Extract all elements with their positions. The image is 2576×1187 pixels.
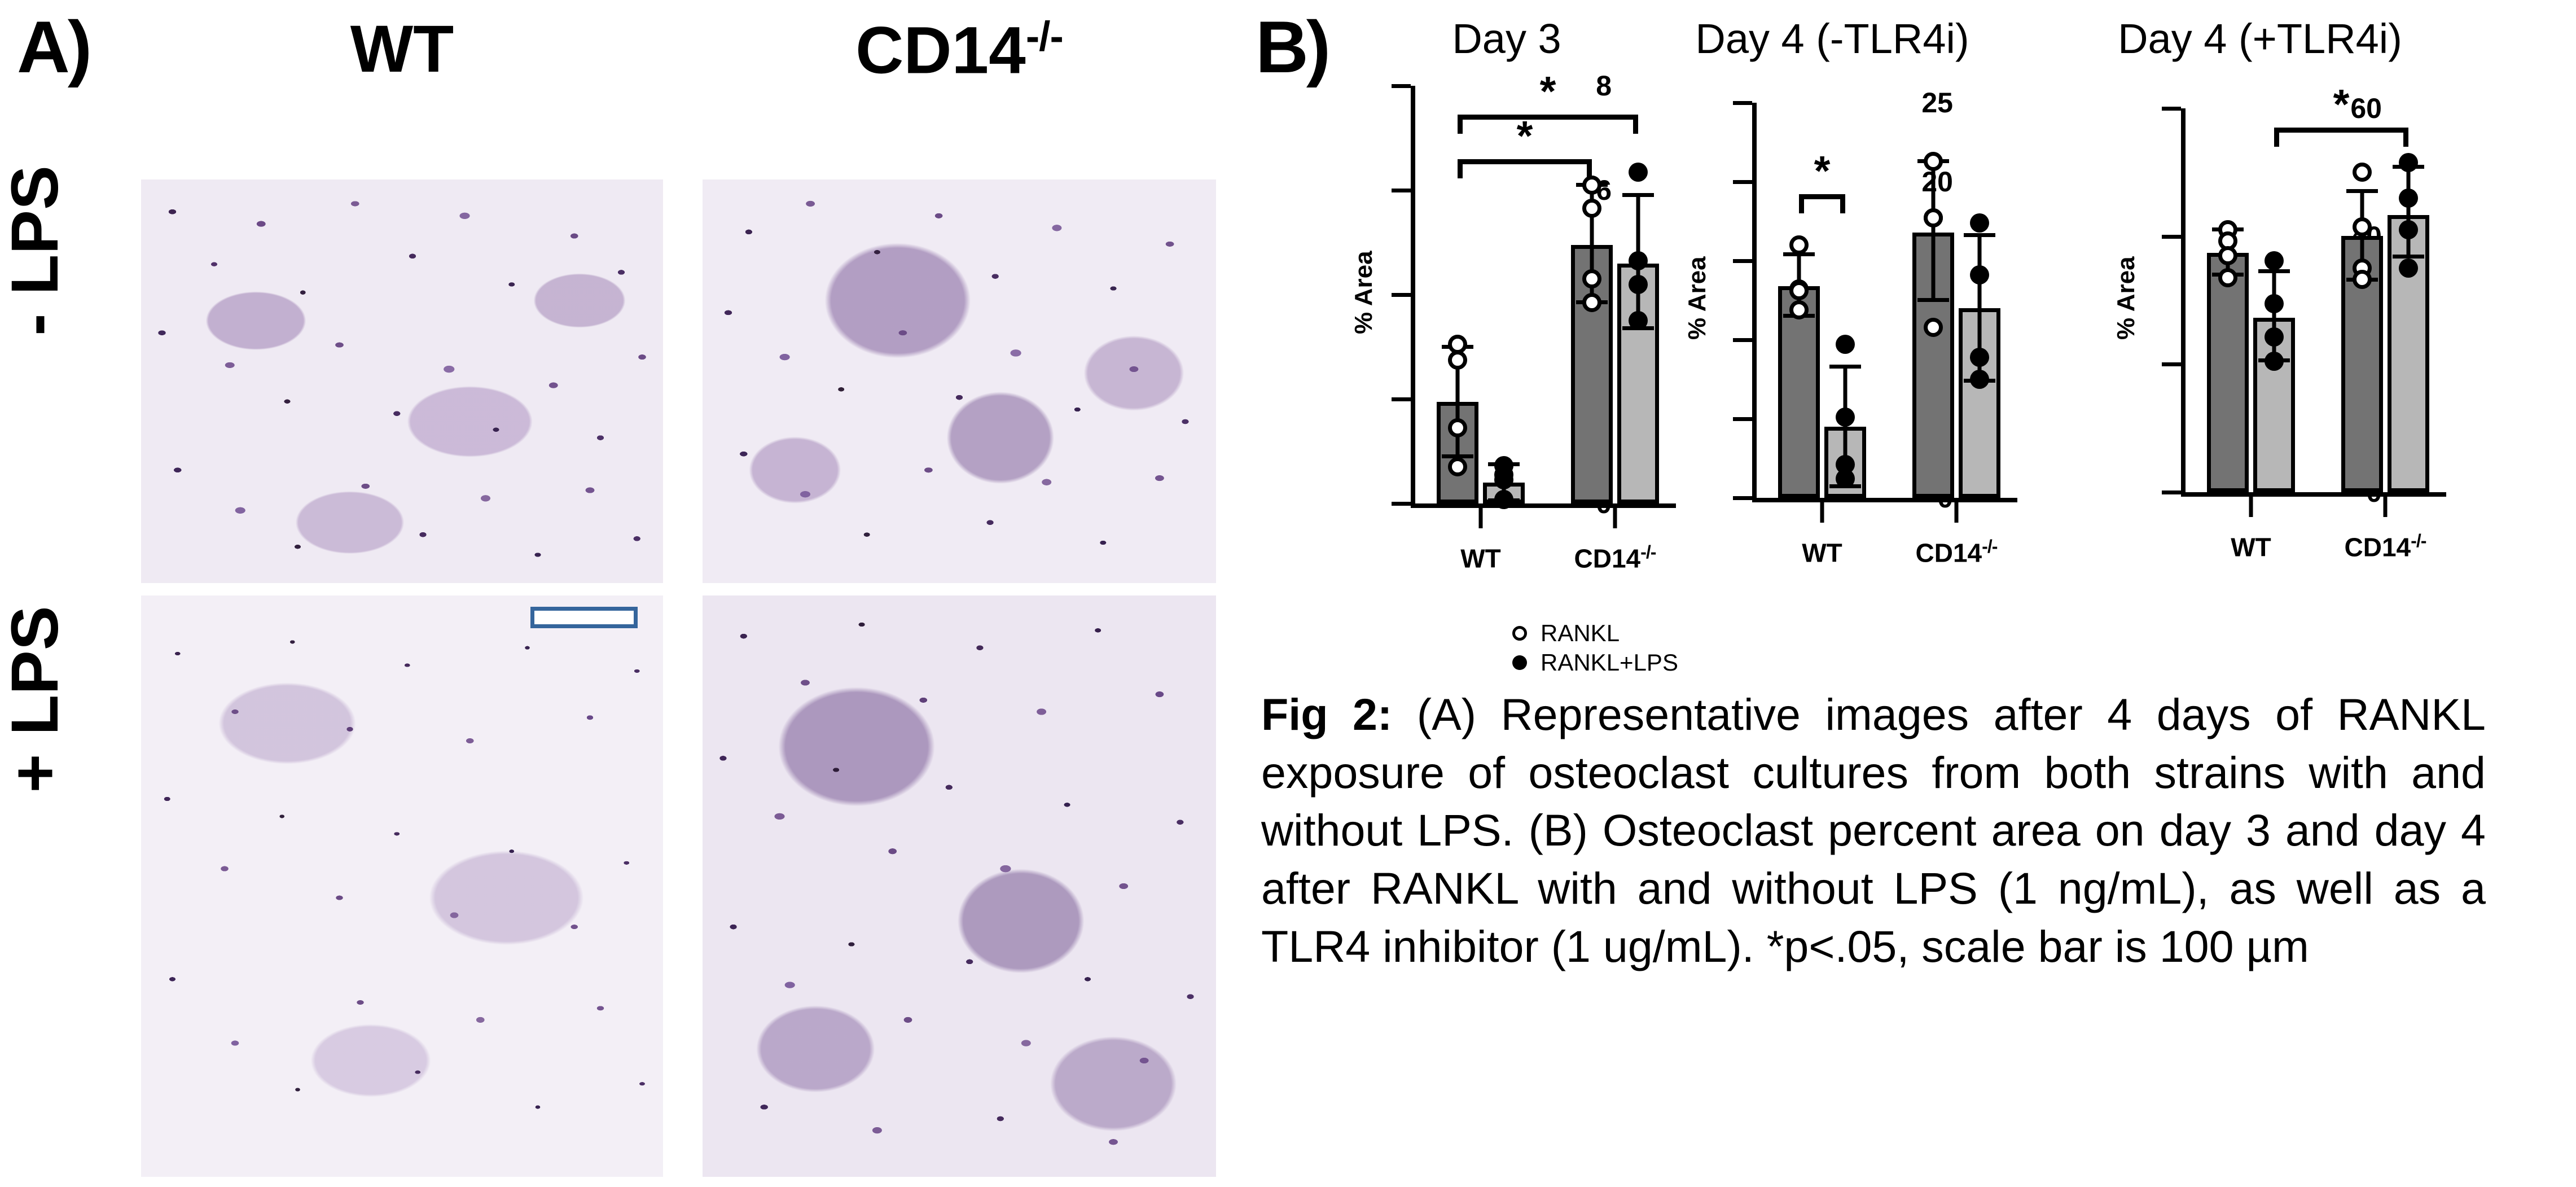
- x-label-text: WT: [1802, 538, 1842, 567]
- micrograph-wt-minus-lps: [141, 179, 663, 583]
- data-point-RANKL: [1924, 152, 1943, 171]
- column-header-wt-text: WT: [350, 12, 454, 86]
- y-axis-label: % Area: [1350, 251, 1378, 334]
- significance-star: *: [1540, 71, 1556, 112]
- column-header-cd14-sup: -/-: [1026, 13, 1063, 59]
- x-tick: [1955, 502, 1959, 523]
- data-point-RANKL-LPS: [1970, 265, 1989, 284]
- y-tick: [1733, 417, 1752, 421]
- figure-caption: Fig 2: (A) Representative images after 4…: [1261, 686, 2486, 975]
- row-label-plus-lps: + LPS: [2, 530, 68, 869]
- data-point-RANKL-LPS: [1970, 348, 1989, 367]
- y-tick: [1733, 180, 1752, 184]
- x-axis-label-WT: WT: [2231, 531, 2271, 562]
- plot-area: % Area0204060WTCD14-/-*: [2181, 108, 2407, 492]
- data-point-RANKL: [1582, 269, 1601, 288]
- caption-label: Fig 2:: [1261, 689, 1392, 739]
- bracket-line: [1458, 159, 1592, 164]
- data-point-RANKL-LPS: [1836, 408, 1855, 427]
- y-tick: [2162, 490, 2181, 494]
- y-axis: [2181, 108, 2186, 492]
- y-axis: [1752, 103, 1757, 498]
- error-bar: [2407, 167, 2411, 257]
- x-label-text: CD14: [2345, 532, 2411, 562]
- panel-a: A) WT CD14-/- - LPS + LPS: [0, 0, 1253, 1187]
- data-point-RANKL-LPS: [1494, 490, 1513, 509]
- y-tick-label: 8: [1596, 69, 1612, 102]
- data-point-RANKL-LPS: [1836, 469, 1855, 488]
- significance-star: *: [1517, 115, 1533, 157]
- scale-bar: [530, 607, 638, 628]
- bracket-line: [2274, 128, 2408, 133]
- bar-WT-RANKL: [2207, 253, 2249, 492]
- data-point-RANKL: [1582, 199, 1601, 218]
- x-tick: [1479, 508, 1483, 528]
- x-axis-label-WT: WT: [1802, 536, 1842, 568]
- error-bar-cap: [2346, 189, 2378, 193]
- bracket-tick-right: [1633, 115, 1638, 134]
- row-label-minus-lps: - LPS: [2, 81, 68, 420]
- data-point-RANKL: [1924, 318, 1943, 337]
- y-tick: [2162, 362, 2181, 366]
- error-bar-cap: [1622, 193, 1654, 197]
- data-point-RANKL-LPS: [2265, 251, 2284, 270]
- y-tick: [1392, 397, 1411, 401]
- data-point-RANKL: [2218, 246, 2237, 265]
- x-label-text: WT: [1460, 544, 1501, 573]
- y-tick-label: 60: [2350, 92, 2382, 125]
- data-point-RANKL: [1789, 281, 1809, 300]
- panel-b: B) Day 3 % Area02468WTCD14-/-** Day 4 (-…: [1250, 0, 2576, 1187]
- legend-label: RANKL: [1541, 621, 1620, 645]
- x-axis-label-CD14: CD14-/-: [1916, 536, 1998, 568]
- x-axis-label-CD14: CD14-/-: [1574, 542, 1656, 573]
- error-bar: [2272, 271, 2276, 361]
- data-point-RANKL-LPS: [2399, 189, 2418, 208]
- x-axis-label-CD14: CD14-/-: [2345, 531, 2426, 562]
- data-point-RANKL: [1448, 457, 1467, 476]
- bracket-tick-left: [2274, 128, 2279, 147]
- bracket-line: [1799, 194, 1845, 199]
- bracket-tick-right: [2403, 128, 2408, 147]
- stain-texture: [703, 179, 1216, 583]
- data-point-RANKL-LPS: [2399, 220, 2418, 239]
- chart-title: Day 4 (-TLR4i): [1657, 18, 2007, 60]
- panel-a-tag: A): [17, 10, 90, 84]
- error-bar-cap: [1964, 233, 1995, 237]
- significance-star: *: [2333, 84, 2350, 125]
- data-point-RANKL-LPS: [1970, 370, 1989, 389]
- x-tick: [1613, 508, 1617, 528]
- plot-area: % Area0510152025WTCD14-/-*: [1752, 103, 1978, 498]
- significance-star: *: [1814, 150, 1831, 192]
- stain-texture: [141, 179, 663, 583]
- bracket-tick-left: [1458, 159, 1463, 178]
- stain-texture: [141, 595, 663, 1177]
- y-tick: [2162, 235, 2181, 239]
- data-point-RANKL-LPS: [1629, 275, 1648, 294]
- y-tick: [2162, 107, 2181, 111]
- y-tick: [1733, 259, 1752, 263]
- error-bar-cap: [2393, 255, 2424, 259]
- data-point-RANKL-LPS: [1494, 470, 1513, 489]
- data-point-RANKL: [1789, 235, 1809, 255]
- data-point-RANKL: [2353, 217, 2372, 236]
- x-tick: [2249, 497, 2253, 517]
- data-point-RANKL-LPS: [2265, 352, 2284, 371]
- micrograph-cd14-minus-lps: [703, 179, 1216, 583]
- x-label-text: CD14: [1574, 544, 1641, 573]
- y-tick: [1392, 502, 1411, 506]
- y-tick: [1392, 84, 1411, 88]
- panel-b-tag: B): [1256, 10, 1328, 84]
- column-header-wt: WT: [141, 16, 663, 82]
- error-bar: [1932, 161, 1936, 300]
- chart-title: Day 4 (+TLR4i): [2085, 18, 2435, 60]
- y-tick: [1733, 101, 1752, 105]
- data-point-RANKL-LPS: [1629, 163, 1648, 182]
- legend-item-rankl-lps: RANKL+LPS: [1512, 648, 1678, 677]
- y-tick-label: 20: [1921, 165, 1953, 198]
- data-point-RANKL-LPS: [1970, 213, 1989, 233]
- bracket-tick-left: [1458, 115, 1463, 134]
- data-point-RANKL: [2353, 163, 2372, 182]
- x-axis: [2181, 492, 2446, 497]
- bracket-tick-right: [1587, 159, 1592, 178]
- data-point-RANKL-LPS: [2265, 294, 2284, 313]
- x-label-sup: -/-: [2411, 531, 2426, 551]
- stain-texture: [703, 595, 1216, 1177]
- y-tick: [1733, 338, 1752, 342]
- legend-label: RANKL+LPS: [1541, 651, 1678, 674]
- legend-item-rankl: RANKL: [1512, 619, 1678, 648]
- data-point-RANKL-LPS: [1836, 335, 1855, 354]
- caption-text: (A) Representative images after 4 days o…: [1261, 689, 2486, 971]
- open-circle-icon: [1512, 626, 1527, 641]
- data-point-RANKL: [1448, 351, 1467, 370]
- filled-circle-icon: [1512, 655, 1527, 670]
- bracket-tick-right: [1840, 194, 1845, 213]
- x-label-text: WT: [2231, 532, 2271, 562]
- micrograph-wt-plus-lps: [141, 595, 663, 1177]
- y-axis-label: % Area: [2112, 256, 2140, 340]
- y-axis-label: % Area: [1683, 256, 1712, 340]
- x-axis-label-WT: WT: [1460, 542, 1501, 573]
- data-point-RANKL: [1448, 418, 1467, 437]
- x-label-text: CD14: [1916, 538, 1982, 567]
- data-point-RANKL: [1582, 293, 1601, 312]
- data-point-RANKL-LPS: [2399, 153, 2418, 172]
- column-header-cd14: CD14-/-: [703, 16, 1216, 84]
- column-header-cd14-text: CD14: [855, 13, 1026, 87]
- data-point-RANKL: [1789, 300, 1809, 319]
- data-point-RANKL: [1582, 176, 1601, 195]
- y-tick-label: 25: [1921, 86, 1953, 119]
- error-bar-cap: [1917, 298, 1949, 302]
- y-tick: [1392, 293, 1411, 297]
- x-tick: [2384, 497, 2388, 517]
- data-point-RANKL: [1924, 208, 1943, 227]
- data-point-RANKL-LPS: [2399, 259, 2418, 278]
- error-bar-cap: [1829, 365, 1861, 369]
- data-point-RANKL: [2218, 268, 2237, 287]
- x-axis: [1752, 498, 2017, 502]
- bracket-tick-left: [1799, 194, 1804, 213]
- x-axis: [1411, 503, 1676, 508]
- plot-area: % Area02468WTCD14-/-**: [1411, 86, 1636, 503]
- y-tick: [1733, 496, 1752, 500]
- data-point-RANKL-LPS: [1629, 251, 1648, 270]
- x-label-sup: -/-: [1640, 542, 1656, 562]
- chart-title: Day 3: [1337, 18, 1676, 60]
- y-axis: [1411, 86, 1415, 503]
- data-point-RANKL-LPS: [1629, 311, 1648, 330]
- data-point-RANKL-LPS: [2265, 327, 2284, 347]
- bracket-line: [1458, 115, 1638, 120]
- chart-legend: RANKL RANKL+LPS: [1512, 619, 1678, 677]
- x-label-sup: -/-: [1982, 536, 1997, 557]
- y-tick: [1392, 189, 1411, 192]
- micrograph-cd14-plus-lps: [703, 595, 1216, 1177]
- x-tick: [1820, 502, 1824, 523]
- data-point-RANKL: [2353, 270, 2372, 289]
